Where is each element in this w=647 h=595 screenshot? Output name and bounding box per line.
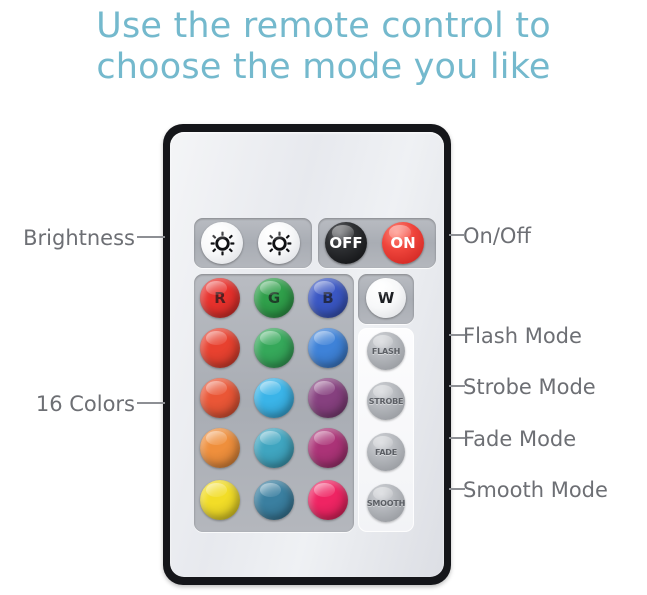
color-button-7[interactable] <box>200 378 240 418</box>
color-button-15[interactable] <box>308 480 348 520</box>
color-button-12[interactable] <box>308 428 348 468</box>
callout-16-colors: 16 Colors <box>36 392 135 416</box>
leader-line-colors <box>137 402 165 404</box>
remote-faceplate: OFF ON R G B W FLASH STROBE FADE SMOOTH <box>170 132 444 577</box>
callout-fade-mode: Fade Mode <box>463 427 576 451</box>
callout-brightness: Brightness <box>23 226 135 250</box>
color-button-5[interactable] <box>254 328 294 368</box>
callout-smooth-mode: Smooth Mode <box>463 478 608 502</box>
color-button-4[interactable] <box>200 328 240 368</box>
sun-icon <box>267 231 292 256</box>
remote-control: OFF ON R G B W FLASH STROBE FADE SMOOTH <box>163 124 451 585</box>
color-button-13[interactable] <box>200 480 240 520</box>
leader-line-brightness <box>137 236 165 238</box>
brightness-down-button[interactable] <box>258 222 300 264</box>
color-button-w[interactable]: W <box>366 278 406 318</box>
color-button-11[interactable] <box>254 428 294 468</box>
page-title-line-2: choose the mode you like <box>0 47 647 88</box>
callout-flash-mode: Flash Mode <box>463 324 582 348</box>
leader-line-on-off <box>449 234 465 236</box>
page-title-line-1: Use the remote control to <box>0 6 647 47</box>
color-button-g[interactable]: G <box>254 278 294 318</box>
color-button-b[interactable]: B <box>308 278 348 318</box>
leader-line-fade <box>449 437 465 439</box>
color-button-14[interactable] <box>254 480 294 520</box>
leader-line-smooth <box>449 488 465 490</box>
leader-line-flash <box>449 334 465 336</box>
callout-strobe-mode: Strobe Mode <box>463 375 596 399</box>
color-button-r[interactable]: R <box>200 278 240 318</box>
brightness-up-button[interactable] <box>201 222 243 264</box>
power-off-button[interactable]: OFF <box>325 222 367 264</box>
color-button-10[interactable] <box>200 428 240 468</box>
color-button-9[interactable] <box>308 378 348 418</box>
power-on-button[interactable]: ON <box>382 222 424 264</box>
leader-line-strobe <box>449 385 465 387</box>
fade-mode-button[interactable]: FADE <box>367 433 405 471</box>
callout-on-off: On/Off <box>463 224 531 248</box>
smooth-mode-button[interactable]: SMOOTH <box>367 484 405 522</box>
color-button-6[interactable] <box>308 328 348 368</box>
sun-icon <box>210 231 235 256</box>
page-title: Use the remote control to choose the mod… <box>0 6 647 88</box>
color-button-8[interactable] <box>254 378 294 418</box>
strobe-mode-button[interactable]: STROBE <box>367 382 405 420</box>
flash-mode-button[interactable]: FLASH <box>367 332 405 370</box>
